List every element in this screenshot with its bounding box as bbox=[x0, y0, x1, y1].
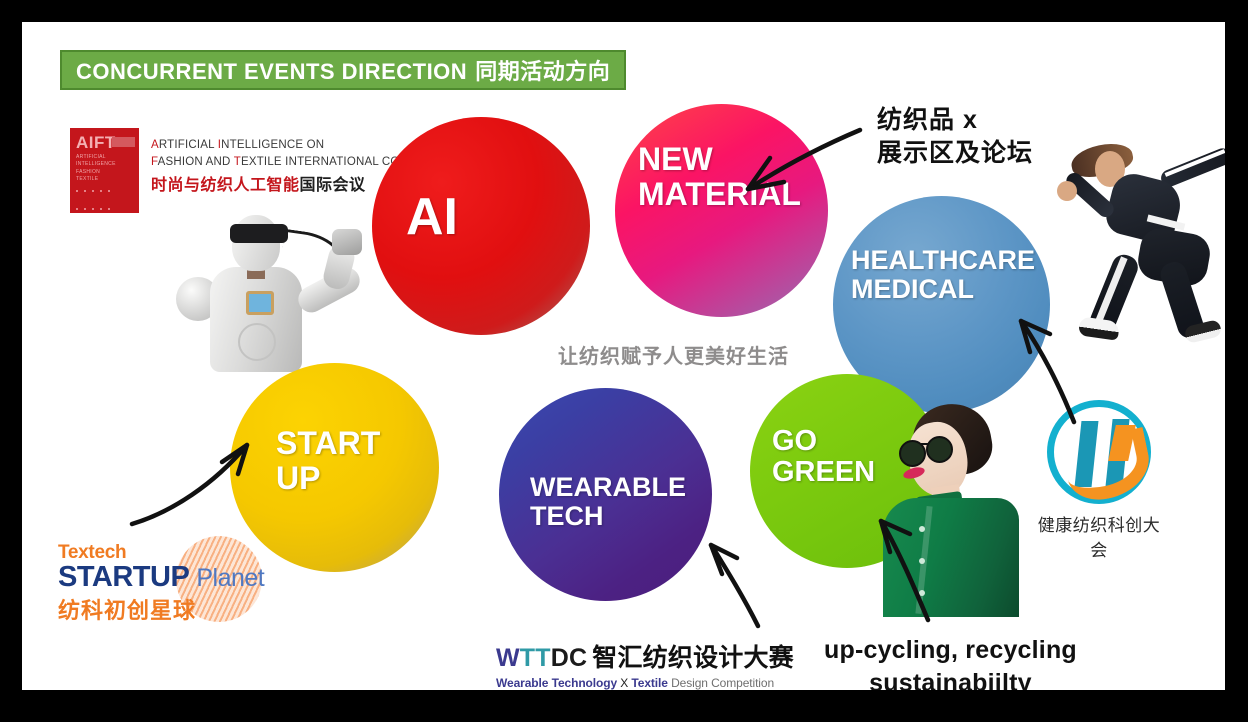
wttdc-sub-f: extile bbox=[638, 676, 671, 690]
bubble-start-up-label: START UP bbox=[276, 426, 380, 495]
fashion-model-photo bbox=[877, 402, 1025, 617]
bubble-go-green-label: GO GREEN bbox=[772, 426, 875, 489]
aift-l1-accent: A bbox=[151, 139, 159, 151]
arrow-to-wearable-tech bbox=[711, 545, 758, 626]
model-shirt-button bbox=[919, 526, 925, 532]
health-logo-caption: 健康纺织科创大会 bbox=[1035, 511, 1163, 561]
aift-l3-black: 国际会议 bbox=[300, 177, 366, 194]
robot-hand bbox=[332, 229, 362, 255]
aift-l2-rest: ASHION AND bbox=[158, 156, 234, 168]
bubble-ai[interactable]: AI bbox=[372, 117, 590, 335]
bubble-wearable-tech[interactable]: WEARABLE TECH bbox=[499, 388, 712, 601]
textech-startup-planet-logo: Textech STARTUP Planet 纺科初创星球 bbox=[58, 542, 293, 627]
wttdc-sub-a: W bbox=[496, 676, 507, 690]
slide-title-banner: CONCURRENT EVENTS DIRECTION同期活动方向 bbox=[60, 50, 626, 90]
aift-dot-grid bbox=[76, 182, 122, 218]
bubble-healthcare-medical-label: HEALTHCARE MEDICAL bbox=[851, 246, 1035, 304]
wttdc-sub-g: Design Competition bbox=[671, 676, 774, 690]
slide-tagline: 让纺织赋予人更美好生活 bbox=[558, 340, 789, 369]
health-logo-circle-icon bbox=[1047, 400, 1151, 504]
bubble-wearable-tech-label: WEARABLE TECH bbox=[530, 473, 686, 531]
textech-planet-word: Planet bbox=[196, 564, 264, 592]
aift-l3-red: 时尚与纺织人工智能 bbox=[151, 177, 300, 194]
slide-title-english: CONCURRENT EVENTS DIRECTION bbox=[76, 59, 467, 84]
wttdc-tt: TT bbox=[520, 644, 551, 672]
health-textile-conference-logo: 健康纺织科创大会 bbox=[1035, 400, 1163, 561]
presentation-slide: CONCURRENT EVENTS DIRECTION同期活动方向 AIFT A… bbox=[22, 22, 1225, 690]
bubble-new-material[interactable]: NEW MATERIAL bbox=[615, 104, 828, 317]
aift-wordmark: AIFT bbox=[76, 133, 116, 153]
wttdc-sub-b: earable bbox=[507, 676, 552, 690]
aift-l2-accent: F bbox=[151, 156, 158, 168]
runner-photo bbox=[1035, 137, 1225, 342]
health-logo-swoosh bbox=[1060, 427, 1155, 506]
aift-l1-rest2: NTELLIGENCE ON bbox=[221, 139, 324, 151]
aift-l1-rest: RTIFICIAL bbox=[159, 139, 218, 151]
slide-title-chinese: 同期活动方向 bbox=[475, 59, 610, 84]
bubble-start-up[interactable]: START UP bbox=[230, 363, 439, 572]
model-green-shirt bbox=[883, 498, 1019, 617]
model-shirt-button bbox=[919, 590, 925, 596]
textech-logo-text: Textech STARTUP Planet 纺科初创星球 bbox=[58, 542, 264, 625]
vr-headset-icon bbox=[230, 224, 288, 243]
robot-photo bbox=[150, 197, 388, 372]
wttdc-w: W bbox=[496, 644, 520, 672]
aift-mark-subtext: ARTIFICIAL INTELLIGENCE FASHION TEXTILE bbox=[76, 154, 116, 183]
model-shirt-button bbox=[919, 558, 925, 564]
textech-row-3: 纺科初创星球 bbox=[58, 593, 264, 625]
aift-bar-decoration bbox=[112, 137, 135, 147]
robot-chest-panel bbox=[246, 291, 274, 315]
bubble-new-material-label: NEW MATERIAL bbox=[638, 142, 801, 211]
wttdc-chinese: 智汇纺织设计大赛 bbox=[592, 644, 794, 672]
slide-title-text: CONCURRENT EVENTS DIRECTION同期活动方向 bbox=[76, 54, 610, 86]
wttdc-wordmark: WTTDC智汇纺织设计大赛 bbox=[496, 638, 794, 674]
callout-new-material: 纺织品 x 展示区及论坛 bbox=[877, 104, 1033, 169]
wttdc-subtitle: Wearable Technology X Textile Design Com… bbox=[496, 676, 794, 690]
sunglasses-right-lens-icon bbox=[926, 436, 953, 463]
aift-logo-mark: AIFT ARTIFICIAL INTELLIGENCE FASHION TEX… bbox=[70, 128, 139, 213]
bubble-ai-label: AI bbox=[406, 189, 458, 245]
textech-row-2: STARTUP Planet bbox=[58, 563, 264, 592]
callout-go-green: up-cycling, recycling sustainabiilty bbox=[824, 634, 1077, 690]
wttdc-sub-d: echnology bbox=[558, 676, 620, 690]
runner-fist bbox=[1057, 181, 1077, 201]
textech-startup-word: STARTUP bbox=[58, 561, 189, 593]
wttdc-competition-logo: WTTDC智汇纺织设计大赛 Wearable Technology X Text… bbox=[496, 638, 794, 690]
sunglasses-bridge-icon bbox=[921, 443, 929, 445]
wttdc-sub-x: X bbox=[620, 676, 631, 690]
aift-l2-accent2: T bbox=[234, 156, 241, 168]
robot-chest-ring bbox=[238, 323, 276, 361]
wttdc-dc: DC bbox=[551, 644, 588, 672]
